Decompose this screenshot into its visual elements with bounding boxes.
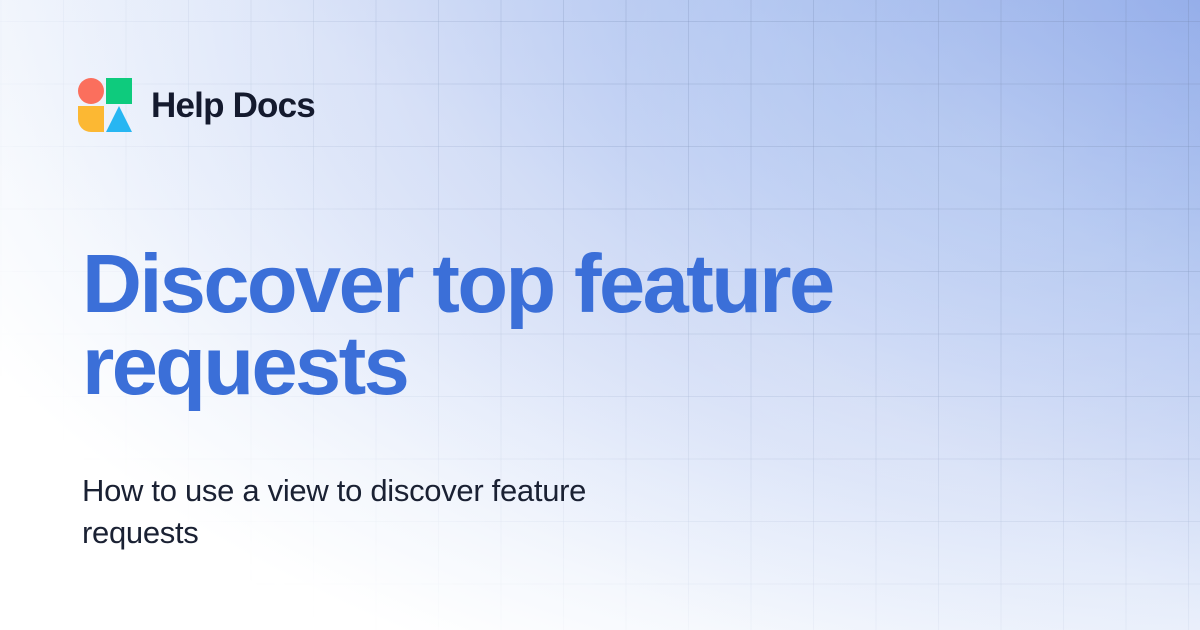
brand-name: Help Docs	[151, 88, 315, 123]
help-docs-logo-icon	[78, 78, 132, 132]
page-subtitle: How to use a view to discover feature re…	[82, 470, 782, 554]
card-content: Help Docs Discover top feature requests …	[0, 0, 1200, 630]
page-title: Discover top feature requests	[82, 243, 1042, 407]
og-card: Help Docs Discover top feature requests …	[0, 0, 1200, 630]
brand-lockup[interactable]: Help Docs	[78, 78, 315, 132]
